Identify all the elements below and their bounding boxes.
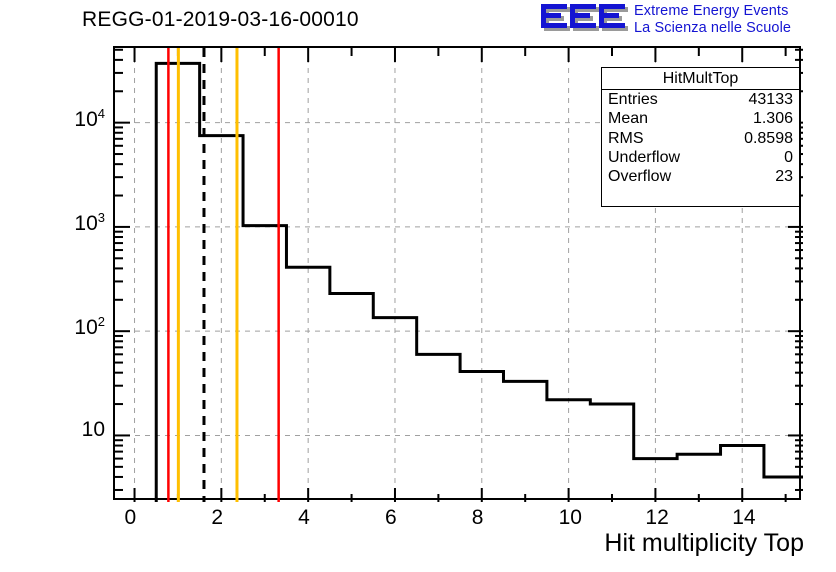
eee-logo-line1: Extreme Energy Events [634, 3, 791, 20]
eee-logo-line2: La Scienza nelle Scuole [634, 20, 791, 37]
x-axis-title: Hit multiplicity Top [604, 529, 804, 558]
x-tick-label: 10 [559, 506, 582, 530]
y-tick-label: 104 [45, 106, 105, 132]
x-tick-label: 4 [298, 506, 310, 530]
stats-row-value: 0.8598 [744, 129, 793, 148]
y-tick-label: 103 [45, 210, 105, 236]
stats-row: Mean1.306 [602, 109, 799, 128]
stats-row: RMS0.8598 [602, 129, 799, 148]
stats-rows: Entries43133Mean1.306RMS0.8598Underflow0… [602, 90, 799, 186]
stats-row: Overflow23 [602, 167, 799, 186]
stats-row: Entries43133 [602, 90, 799, 109]
stats-row-key: Entries [608, 90, 658, 109]
eee-logo: Extreme Energy Events La Scienza nelle S… [540, 2, 834, 42]
stats-row-key: Mean [608, 109, 648, 128]
stats-row-key: Overflow [608, 167, 671, 186]
stats-box: HitMultTop Entries43133Mean1.306RMS0.859… [601, 67, 800, 207]
x-tick-label: 0 [125, 506, 137, 530]
root-canvas: REGG-01-2019-03-16-00010 Extreme Energy … [0, 0, 836, 572]
stats-row-key: RMS [608, 129, 644, 148]
eee-logo-text: Extreme Energy Events La Scienza nelle S… [634, 3, 791, 37]
x-tick-label: 2 [211, 506, 223, 530]
x-tick-label: 14 [732, 506, 755, 530]
eee-logo-icon [540, 2, 628, 36]
x-tick-label: 8 [472, 506, 484, 530]
page-title: REGG-01-2019-03-16-00010 [82, 8, 359, 32]
stats-row-value: 0 [784, 148, 793, 167]
stats-title: HitMultTop [602, 68, 799, 90]
stats-row-key: Underflow [608, 148, 680, 167]
stats-row-value: 23 [775, 167, 793, 186]
y-tick-label: 102 [45, 314, 105, 340]
stats-row: Underflow0 [602, 148, 799, 167]
x-tick-label: 12 [645, 506, 668, 530]
stats-row-value: 1.306 [753, 109, 793, 128]
y-tick-label: 10 [45, 418, 105, 442]
stats-row-value: 43133 [749, 90, 794, 109]
x-tick-label: 6 [385, 506, 397, 530]
